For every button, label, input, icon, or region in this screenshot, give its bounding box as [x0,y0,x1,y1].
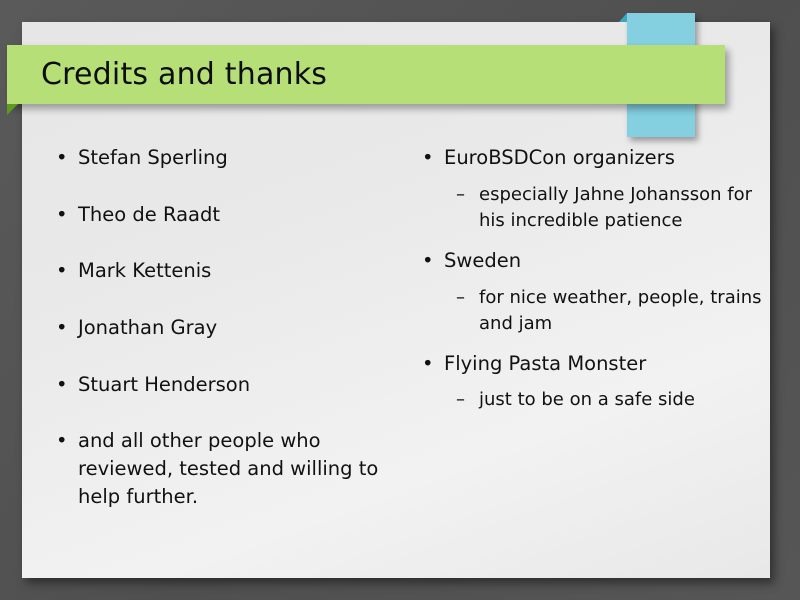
credits-column-right: • EuroBSDCon organizers – especially Jah… [414,144,770,511]
list-item-label: Stefan Sperling [78,144,414,172]
list-item[interactable]: • Theo de Raadt [48,201,414,229]
bullet-icon: • [56,144,68,172]
bullet-icon: • [422,247,434,275]
bullet-icon: • [56,201,68,229]
list-item[interactable]: • Flying Pasta Monster – just to be on a… [414,350,770,414]
list-item-label: EuroBSDCon organizers [444,144,770,172]
bullet-icon: • [422,144,434,172]
accent-fold-blue-icon [619,13,627,22]
list-item-label: Sweden [444,247,770,275]
sub-list-item-label: for nice weather, people, trains and jam [479,285,770,337]
credits-list-right: • EuroBSDCon organizers – especially Jah… [414,144,770,414]
list-item[interactable]: • Stefan Sperling [48,144,414,172]
dash-icon: – [456,387,465,413]
list-item-label: Jonathan Gray [78,314,414,342]
sub-list: – especially Jahne Johansson for his inc… [444,182,770,234]
sub-list-item-label: especially Jahne Johansson for his incre… [479,182,770,234]
list-item-label: Theo de Raadt [78,201,414,229]
title-band: Credits and thanks [7,45,725,104]
dash-icon: – [456,285,465,311]
slide-body: • Stefan Sperling • Theo de Raadt • Mark… [22,144,770,511]
list-item[interactable]: • Mark Kettenis [48,257,414,285]
sub-list-item[interactable]: – just to be on a safe side [444,387,770,413]
credits-column-left: • Stefan Sperling • Theo de Raadt • Mark… [22,144,414,511]
sub-list: – for nice weather, people, trains and j… [444,285,770,337]
sub-list: – just to be on a safe side [444,387,770,413]
list-item-label: and all other people who reviewed, teste… [78,427,414,510]
bullet-icon: • [56,427,68,455]
bullet-icon: • [56,257,68,285]
bullet-icon: • [56,314,68,342]
list-item[interactable]: • Stuart Henderson [48,371,414,399]
dash-icon: – [456,182,465,208]
title-fold-green-icon [7,104,18,115]
bullet-icon: • [422,350,434,378]
sub-list-item-label: just to be on a safe side [479,387,770,413]
list-item[interactable]: • EuroBSDCon organizers – especially Jah… [414,144,770,234]
list-item[interactable]: • Sweden – for nice weather, people, tra… [414,247,770,337]
list-item-label: Stuart Henderson [78,371,414,399]
sub-list-item[interactable]: – especially Jahne Johansson for his inc… [444,182,770,234]
list-item[interactable]: • and all other people who reviewed, tes… [48,427,414,510]
list-item-label: Mark Kettenis [78,257,414,285]
list-item[interactable]: • Jonathan Gray [48,314,414,342]
bullet-icon: • [56,371,68,399]
credits-list-left: • Stefan Sperling • Theo de Raadt • Mark… [48,144,414,511]
sub-list-item[interactable]: – for nice weather, people, trains and j… [444,285,770,337]
list-item-label: Flying Pasta Monster [444,350,770,378]
page-title: Credits and thanks [41,57,327,92]
presentation-stage: • Stefan Sperling • Theo de Raadt • Mark… [0,0,800,600]
